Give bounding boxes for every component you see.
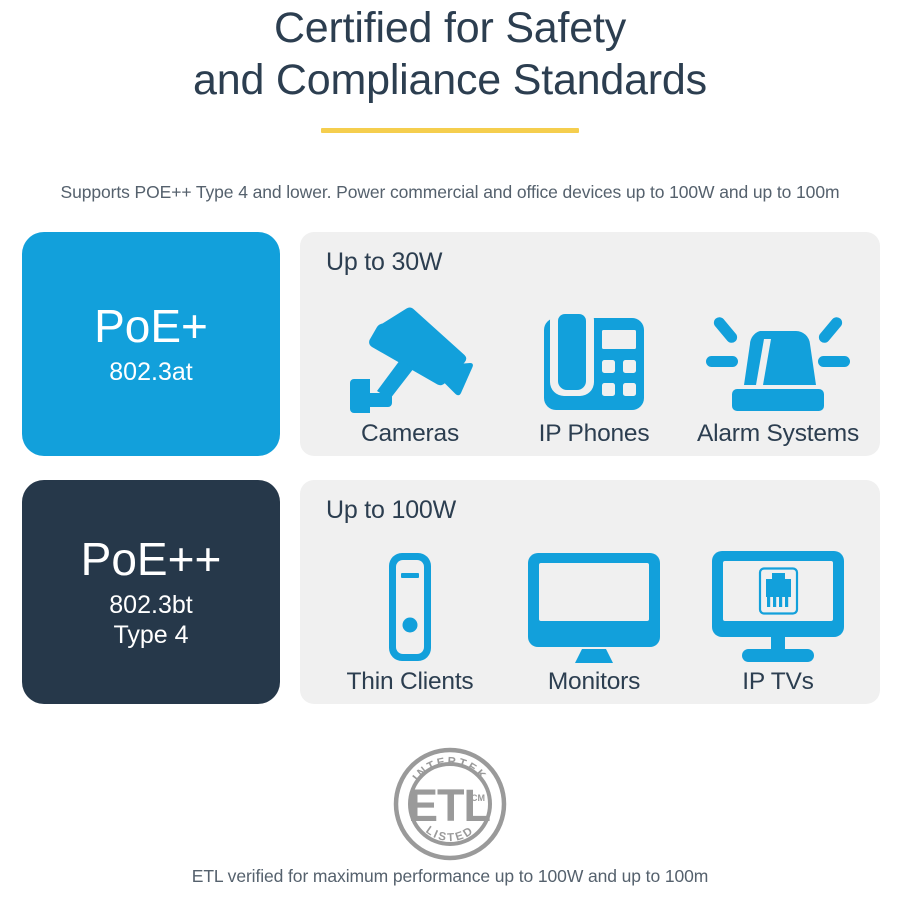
power-label: Up to 30W [326,248,442,277]
standard-card-poe-plus: PoE+ 802.3at [22,232,280,456]
ip-tv-rj45-icon [691,546,866,668]
svg-text:ETL: ETL [408,780,491,831]
page-title-line-2: and Compliance Standards [0,54,900,106]
standard-subline: Type 4 [109,620,192,650]
standard-sublines: 802.3bt Type 4 [109,590,192,650]
standard-row-poe-plus: PoE+ 802.3at Up to 30W [0,232,900,456]
device-item-cameras: Cameras [323,284,498,448]
standard-subline: 802.3bt [109,590,192,620]
device-panel-100w: Up to 100W Thin Clients [300,480,880,704]
security-camera-icon [323,298,498,420]
standard-row-poe-plus-plus: PoE++ 802.3bt Type 4 Up to 100W [0,480,900,704]
standard-sublines: 802.3at [109,357,192,387]
device-label: Cameras [361,420,459,448]
device-label: Monitors [548,668,640,696]
svg-text:CM: CM [471,793,485,803]
standard-card-poe-plus-plus: PoE++ 802.3bt Type 4 [22,480,280,704]
monitor-icon [507,546,682,668]
thin-client-tower-icon [323,546,498,668]
device-item-ip-tvs: IP TVs [691,532,866,696]
alarm-siren-icon [691,298,866,420]
power-label: Up to 100W [326,496,456,525]
device-label: IP Phones [539,420,650,448]
device-label: IP TVs [742,668,813,696]
device-item-alarm-systems: Alarm Systems [691,284,866,448]
header: Certified for Safety and Compliance Stan… [0,0,900,133]
device-panel-30w: Up to 30W [300,232,880,456]
device-item-monitors: Monitors [507,532,682,696]
device-item-thin-clients: Thin Clients [323,532,498,696]
device-list: Thin Clients Monitors [318,532,870,696]
title-underline-rule [321,128,579,133]
subtitle-text: Supports POE++ Type 4 and lower. Power c… [0,182,900,203]
etl-listed-intertek-logo: INTERTEK LISTED ETL CM [392,746,508,862]
standard-subline: 802.3at [109,357,192,387]
device-label: Thin Clients [347,668,474,696]
certification-logo-wrap: INTERTEK LISTED ETL CM [0,746,900,862]
certification-caption: ETL verified for maximum performance up … [0,866,900,887]
device-list: Cameras [318,284,870,448]
device-label: Alarm Systems [697,420,859,448]
infographic-page: Certified for Safety and Compliance Stan… [0,0,900,900]
desk-phone-icon [507,298,682,420]
standard-name: PoE++ [81,534,222,584]
page-title-line-1: Certified for Safety [0,0,900,54]
device-item-ip-phones: IP Phones [507,284,682,448]
standard-name: PoE+ [94,301,208,351]
